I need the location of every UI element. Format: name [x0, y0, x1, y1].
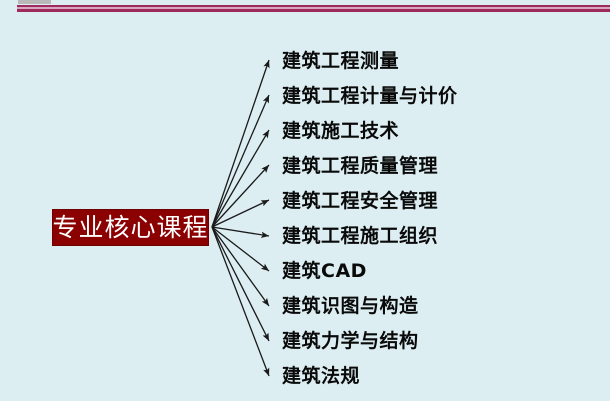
arrow-connector: [212, 200, 269, 227]
course-item-label: 建筑工程计量与计价: [282, 81, 458, 108]
course-item: 建筑工程测量: [282, 42, 602, 77]
course-item: 建筑工程施工组织: [282, 217, 602, 252]
top-divider-rule: [17, 5, 610, 12]
arrow-connector: [212, 227, 269, 306]
course-item-label: 建筑识图与构造: [282, 291, 419, 318]
core-curriculum-node: 专业核心课程: [52, 209, 209, 246]
course-item: 建筑施工技术: [282, 112, 602, 147]
course-item-label: 建筑工程质量管理: [282, 151, 438, 178]
course-item-label: 建筑施工技术: [282, 116, 399, 143]
course-item-label: 建筑工程安全管理: [282, 186, 438, 213]
course-item-label: 建筑CAD: [282, 256, 367, 283]
course-item-label: 建筑工程测量: [282, 46, 399, 73]
arrow-connector: [212, 165, 269, 227]
top-gray-tab: [18, 0, 51, 4]
course-list: 建筑工程测量建筑工程计量与计价建筑施工技术建筑工程质量管理建筑工程安全管理建筑工…: [282, 42, 602, 392]
arrow-connector: [212, 60, 269, 227]
course-item: 建筑法规: [282, 357, 602, 392]
divider-line-dark-lower: [17, 9, 610, 12]
course-item: 建筑识图与构造: [282, 287, 602, 322]
arrow-connector: [212, 227, 269, 341]
course-item: 建筑工程安全管理: [282, 182, 602, 217]
course-item-label: 建筑力学与结构: [282, 326, 419, 353]
arrow-connector: [212, 227, 269, 236]
course-item: 建筑工程质量管理: [282, 147, 602, 182]
arrow-connector: [212, 95, 269, 227]
course-item: 建筑CAD: [282, 252, 602, 287]
course-item: 建筑力学与结构: [282, 322, 602, 357]
arrow-connector: [212, 227, 269, 271]
course-item-label: 建筑工程施工组织: [282, 221, 438, 248]
arrow-connector: [212, 227, 269, 376]
slide-canvas: 专业核心课程 建筑工程测量建筑工程计量与计价建筑施工技术建筑工程质量管理建筑工程…: [0, 0, 610, 401]
arrow-connector: [212, 130, 269, 227]
course-item: 建筑工程计量与计价: [282, 77, 602, 112]
core-curriculum-label: 专业核心课程: [53, 215, 209, 240]
course-item-label: 建筑法规: [282, 361, 360, 388]
